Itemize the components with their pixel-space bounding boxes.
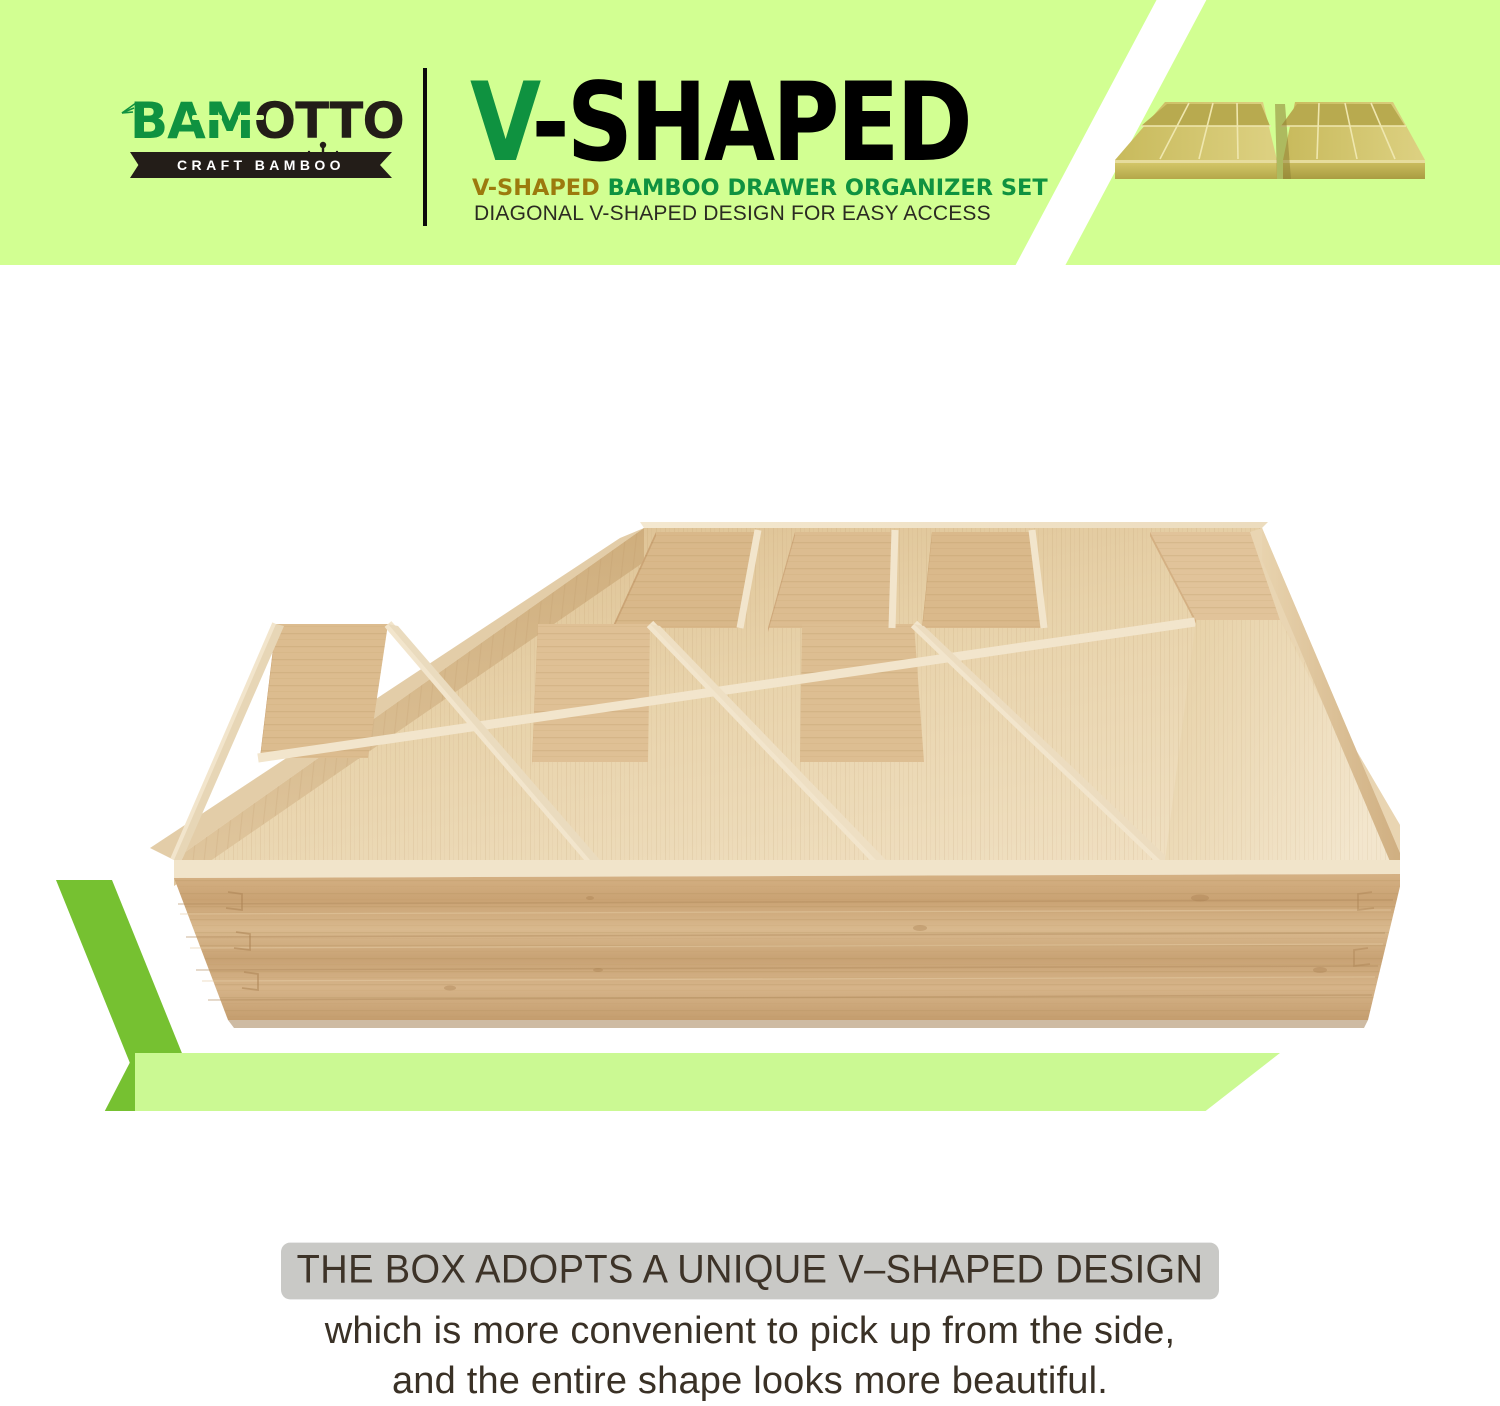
headline-accent: V (470, 60, 532, 186)
subtitle-part-2: BAMBOO DRAWER ORGANIZER SET (608, 176, 1048, 201)
tray-bottom-edge-shadow (228, 1020, 1368, 1028)
compartment-front-3 (800, 624, 924, 766)
caption-line-1-wrap: THE BOX ADOPTS A UNIQUE V–SHAPED DESIGN (0, 1244, 1500, 1298)
banner-product-thumbnail (1105, 82, 1435, 197)
banner-tagline: DIAGONAL V-SHAPED DESIGN FOR EASY ACCESS (474, 202, 991, 226)
caption-line-3: and the entire shape looks more beautifu… (0, 1356, 1500, 1406)
subtitle-part-1: V-SHAPED (472, 176, 608, 201)
brand-wordmark: BAMOTTO (130, 95, 390, 147)
top-banner: BAMOTTO CRAFT BAMBOO V-SHAPED V-SHAPED B… (0, 0, 1500, 265)
brand-tagline-ribbon: CRAFT BAMBOO (130, 152, 392, 178)
tray-top-rim-back (640, 522, 1268, 528)
compartment-front-2 (532, 624, 650, 766)
brand-wordmark-part-1: BAM (130, 92, 254, 150)
caption-headline-highlight: THE BOX ADOPTS A UNIQUE V–SHAPED DESIGN (281, 1243, 1220, 1300)
bamboo-node-stripe-2 (238, 115, 264, 120)
compartment-back-3 (922, 532, 1044, 632)
headline-rest: -SHAPED (532, 60, 970, 186)
banner-headline: V-SHAPED (470, 62, 970, 185)
banner-vertical-divider (423, 68, 427, 226)
hero-product-image (150, 500, 1400, 1060)
bamboo-leaf-icon (121, 101, 137, 115)
banner-tray-right (1281, 102, 1425, 179)
caption-line-2: which is more convenient to pick up from… (0, 1306, 1500, 1356)
bamboo-node-stripe-1 (192, 115, 222, 120)
banner-tray-left (1115, 102, 1277, 179)
brand-logo: BAMOTTO CRAFT BAMBOO (130, 95, 390, 195)
banner-subtitle: V-SHAPED BAMBOO DRAWER ORGANIZER SET (472, 176, 1048, 201)
bottom-caption: THE BOX ADOPTS A UNIQUE V–SHAPED DESIGN … (0, 1244, 1500, 1406)
green-arrow-horizontal-bar (135, 1053, 1280, 1111)
